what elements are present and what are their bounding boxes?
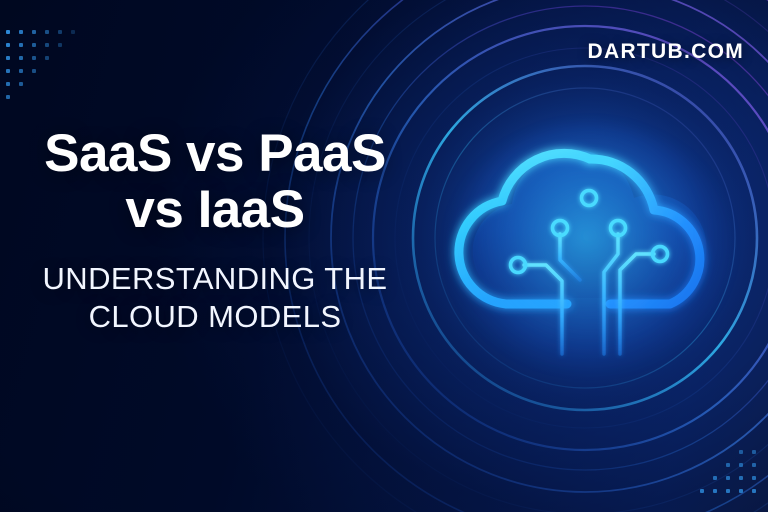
decor-dot bbox=[58, 30, 62, 34]
brand-logo: DARTUB.COM bbox=[588, 40, 744, 64]
decor-dot bbox=[726, 489, 730, 493]
decor-dot bbox=[45, 43, 49, 47]
hero-text-block: SaaS vs PaaS vs IaaS UNDERSTANDING THE C… bbox=[0, 126, 430, 336]
decor-dot bbox=[32, 43, 36, 47]
decor-dot bbox=[19, 30, 23, 34]
decor-dot bbox=[19, 56, 23, 60]
decor-dot bbox=[713, 476, 717, 480]
decor-dot bbox=[45, 56, 49, 60]
decor-dot bbox=[739, 450, 743, 454]
decor-dot bbox=[32, 56, 36, 60]
decor-dot bbox=[752, 476, 756, 480]
decor-dot bbox=[6, 30, 10, 34]
decor-dot bbox=[700, 489, 704, 493]
page-subtitle: UNDERSTANDING THE CLOUD MODELS bbox=[0, 260, 430, 336]
decor-dot bbox=[6, 82, 10, 86]
decor-dot bbox=[19, 82, 23, 86]
banner-canvas: DARTUB.COM SaaS vs PaaS vs IaaS UNDERSTA… bbox=[0, 0, 768, 512]
decor-dot bbox=[6, 69, 10, 73]
dot-grid-bottom-right bbox=[700, 450, 768, 510]
cloud-circuit-icon bbox=[440, 118, 740, 378]
decor-dot bbox=[713, 489, 717, 493]
decor-dot bbox=[739, 476, 743, 480]
decor-dot bbox=[19, 69, 23, 73]
decor-dot bbox=[19, 43, 23, 47]
decor-dot bbox=[6, 56, 10, 60]
decor-dot bbox=[752, 450, 756, 454]
decor-dot bbox=[739, 489, 743, 493]
page-title: SaaS vs PaaS vs IaaS bbox=[0, 126, 430, 238]
decor-dot bbox=[739, 463, 743, 467]
decor-dot bbox=[71, 30, 75, 34]
cloud-illustration bbox=[440, 118, 740, 378]
decor-dot bbox=[726, 476, 730, 480]
decor-dot bbox=[6, 95, 10, 99]
decor-dot bbox=[45, 30, 49, 34]
decor-dot bbox=[6, 43, 10, 47]
decor-dot bbox=[726, 463, 730, 467]
decor-dot bbox=[32, 69, 36, 73]
decor-dot bbox=[32, 30, 36, 34]
decor-dot bbox=[752, 463, 756, 467]
decor-dot bbox=[58, 43, 62, 47]
decor-dot bbox=[752, 489, 756, 493]
dot-grid-top-left bbox=[6, 30, 96, 120]
